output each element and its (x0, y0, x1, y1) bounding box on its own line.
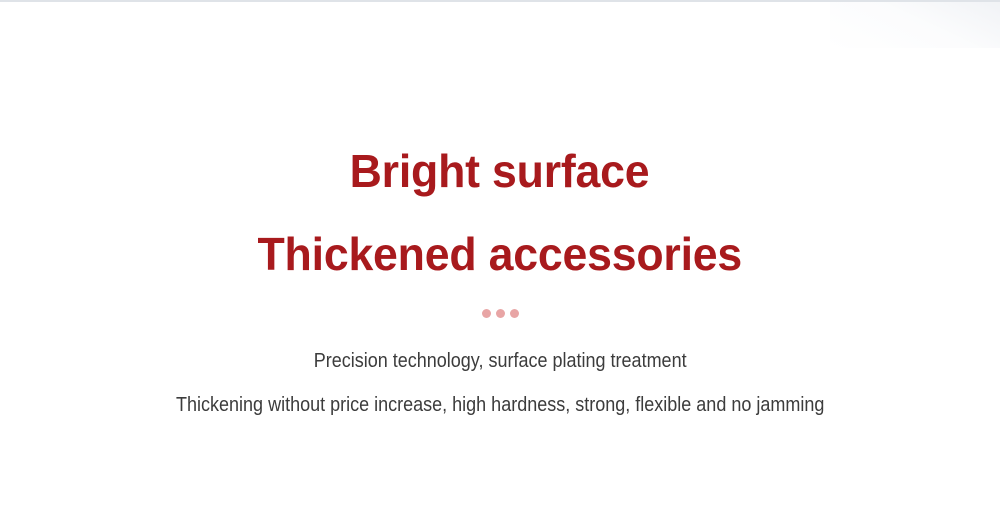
headline-secondary: Thickened accessories (258, 231, 743, 277)
subtitle-secondary: Thickening without price increase, high … (176, 395, 824, 415)
divider-dot-icon (496, 309, 505, 318)
banner-content: Bright surface Thickened accessories Pre… (0, 0, 1000, 518)
headline-primary: Bright surface (350, 148, 650, 194)
divider-dot-icon (510, 309, 519, 318)
dot-divider (482, 309, 519, 318)
product-feature-banner: Bright surface Thickened accessories Pre… (0, 0, 1000, 518)
divider-dot-icon (482, 309, 491, 318)
subtitle-primary: Precision technology, surface plating tr… (314, 351, 687, 371)
